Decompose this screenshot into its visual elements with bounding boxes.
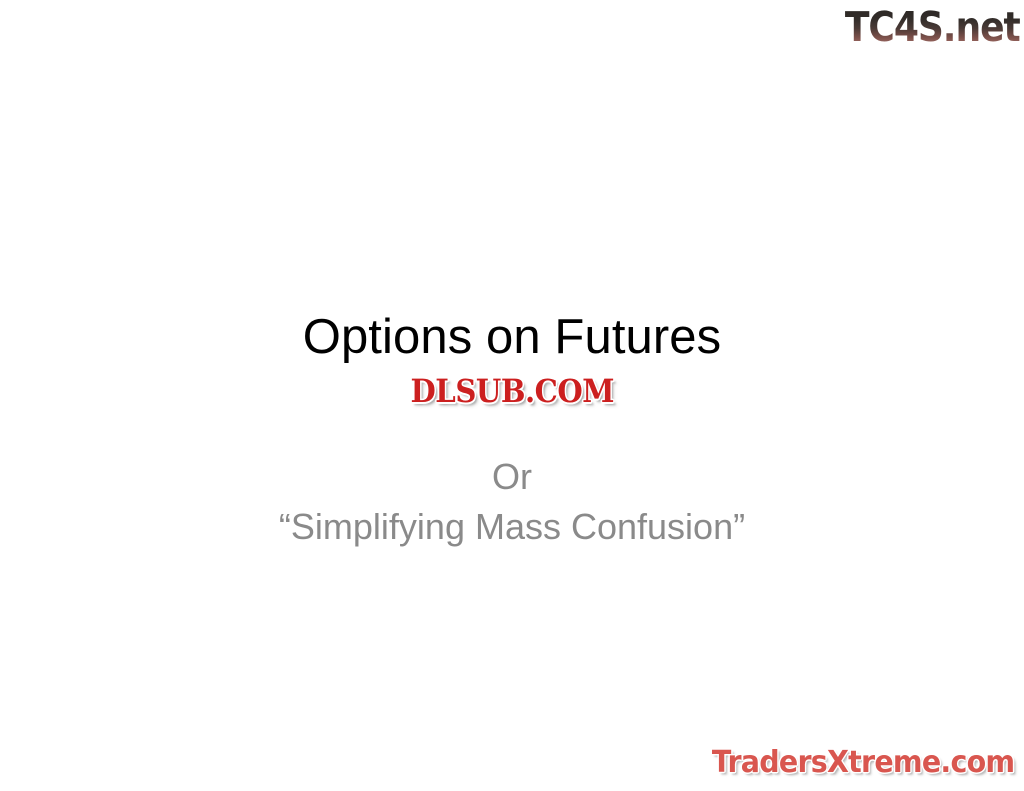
dlsub-watermark: DLSUB.COM bbox=[366, 371, 658, 413]
tradersxtreme-logo: TradersXtreme.com bbox=[706, 741, 1014, 785]
tc4s-logo: TC4S.net bbox=[836, 2, 1020, 52]
slide-title: Options on Futures bbox=[0, 310, 1024, 365]
slide-subtitle-line-2: “Simplifying Mass Confusion” bbox=[0, 505, 1024, 548]
tc4s-logo-text: TC4S.net bbox=[845, 7, 1020, 48]
tradersxtreme-logo-text: TradersXtreme.com bbox=[712, 748, 1014, 778]
dlsub-watermark-text: DLSUB.COM bbox=[410, 376, 614, 408]
slide-subtitle-line-1: Or bbox=[0, 455, 1024, 498]
presentation-slide: TC4S.net Options on Futures DLSUB.COM Or… bbox=[0, 0, 1024, 791]
